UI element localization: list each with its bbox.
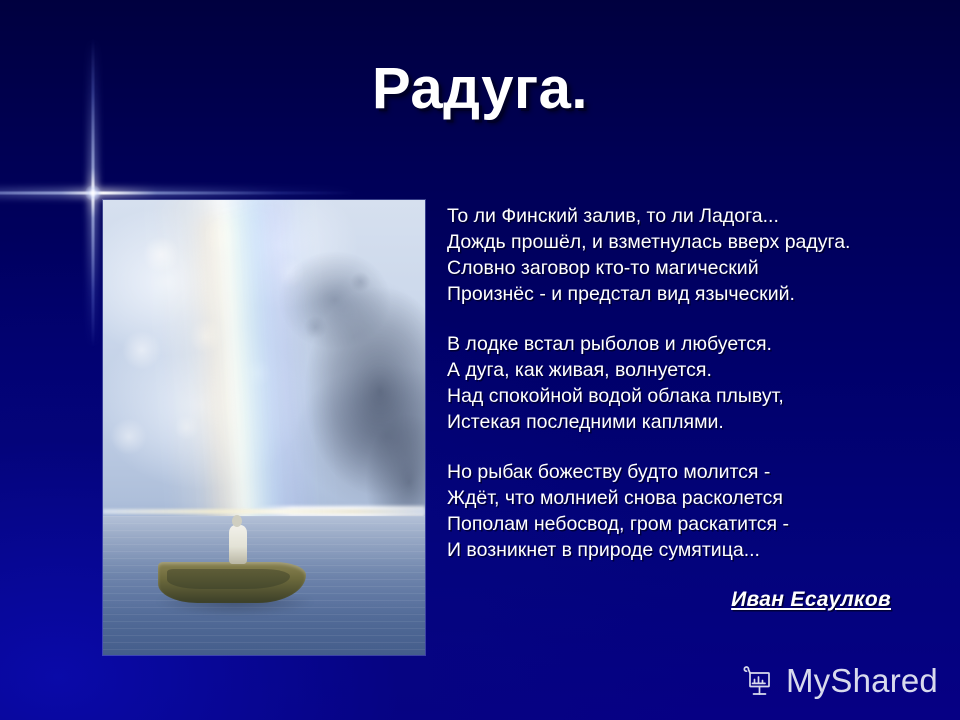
poem-line: Истекая последними каплями. — [447, 409, 907, 435]
poem-line: И возникнет в природе сумятица... — [447, 537, 907, 563]
slide-title: Радуга. — [0, 55, 960, 122]
poem-line: В лодке встал рыболов и любуется. — [447, 331, 907, 357]
painting-fisherman-body — [229, 525, 247, 564]
starburst-core — [85, 185, 101, 201]
rainbow-painting-image — [103, 200, 425, 655]
poem-line: Дождь прошёл, и взметнулась вверх радуга… — [447, 229, 907, 255]
starburst-beam-horizontal-glow — [0, 188, 358, 199]
painting-horizon-line — [103, 509, 425, 514]
poem-stanza-3: Но рыбак божеству будто молится - Ждёт, … — [447, 459, 907, 563]
poem-line: А дуга, как живая, волнуется. — [447, 357, 907, 383]
poem-line: То ли Финский залив, то ли Ладога... — [447, 203, 907, 229]
myshared-logo[interactable]: MyShared — [743, 662, 938, 700]
poem-text-block: То ли Финский залив, то ли Ладога... Дож… — [447, 203, 907, 613]
presentation-easel-chart-icon — [743, 664, 777, 698]
poem-stanza-1: То ли Финский залив, то ли Ладога... Дож… — [447, 203, 907, 307]
myshared-logo-text: MyShared — [786, 662, 938, 700]
poem-author: Иван Есаулков — [447, 587, 907, 613]
painting-boat-interior — [167, 569, 289, 590]
poem-line: Пополам небосвод, гром раскатится - — [447, 511, 907, 537]
poem-line: Но рыбак божеству будто молится - — [447, 459, 907, 485]
poem-line: Словно заговор кто-то магический — [447, 255, 907, 281]
poem-stanza-2: В лодке встал рыболов и любуется. А дуга… — [447, 331, 907, 435]
presentation-slide: Радуга. То ли Финский залив, то ли Ладог… — [0, 0, 960, 720]
poem-line: Над спокойной водой облака плывут, — [447, 383, 907, 409]
poem-line: Произнёс - и предстал вид языческий. — [447, 281, 907, 307]
poem-line: Ждёт, что молнией снова расколется — [447, 485, 907, 511]
starburst-beam-horizontal — [0, 192, 358, 195]
